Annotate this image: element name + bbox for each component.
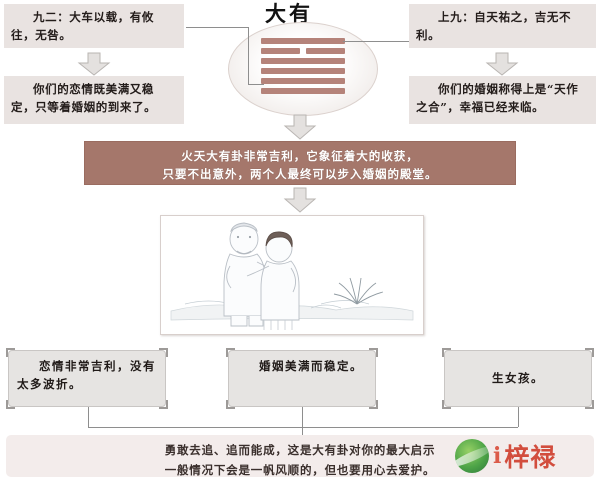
connector-right-horizontal: [343, 41, 409, 42]
watermark: i 梓禄: [455, 438, 556, 474]
hexagram-line-3: [261, 68, 345, 74]
corner-bracket-br: [369, 400, 378, 409]
corner-bracket-tr: [585, 348, 594, 357]
watermark-brand: 梓禄: [504, 438, 556, 474]
couple-sketch-icon: [161, 216, 423, 334]
corner-bracket-bl: [226, 400, 235, 409]
down-arrow-icon-center-bottom: [282, 187, 318, 213]
corner-bracket-bl: [6, 400, 15, 409]
hexagram-line-5: [261, 48, 345, 54]
connector-outcomes-horizontal: [88, 427, 518, 428]
connector-left-vertical: [248, 27, 249, 84]
connector-left-horizontal-bottom: [248, 84, 264, 85]
hexagram-daYou: [261, 38, 345, 94]
illustration-frame: [160, 215, 424, 335]
panel-source-text-right: 上九：自天祐之，吉无不利。: [409, 4, 596, 48]
outcome-box-1: 恋情非常吉利，没有太多波折。: [8, 350, 166, 407]
connector-outcome2-vertical: [302, 407, 303, 427]
hexagram-line-1: [261, 88, 345, 94]
outcome-box-2: 婚姻美满而稳定。: [228, 350, 376, 407]
down-arrow-icon-center-top: [282, 114, 318, 140]
panel-interpretation-left: 你们的恋情既美满又稳定，只等着婚姻的到来了。: [4, 76, 184, 124]
corner-bracket-br: [159, 400, 168, 409]
main-banner-line-2: 只要不出意外，两个人最终可以步入婚姻的殿堂。: [95, 165, 505, 183]
corner-bracket-tl: [442, 348, 451, 357]
connector-outcome3-vertical: [518, 407, 519, 427]
connector-left-horizontal-top: [186, 27, 248, 28]
corner-bracket-br: [585, 400, 594, 409]
hexagram-line-2: [261, 78, 345, 84]
outcome-text-3: 生女孩。: [445, 351, 591, 393]
outcome-text-2: 婚姻美满而稳定。: [229, 351, 375, 381]
corner-bracket-tl: [6, 348, 15, 357]
leaf-globe-logo-icon: [455, 439, 489, 473]
corner-bracket-tr: [159, 348, 168, 357]
infographic-canvas: 大有 九二：大车以载，有攸往，无咎。 你们的恋情既美满又稳定，只等着婚姻的到来了…: [0, 0, 600, 480]
down-arrow-icon-left: [76, 52, 112, 76]
corner-bracket-tr: [369, 348, 378, 357]
main-banner-line-1: 火天大有卦非常吉利，它象征着大的收获，: [95, 147, 505, 165]
connector-footer-vertical: [302, 427, 303, 435]
down-arrow-icon-right: [484, 52, 520, 76]
corner-bracket-bl: [442, 400, 451, 409]
watermark-letter: i: [493, 443, 501, 469]
panel-source-text-left: 九二：大车以载，有攸往，无咎。: [4, 4, 184, 48]
outcome-text-1: 恋情非常吉利，没有太多波折。: [9, 351, 165, 400]
hexagram-line-6: [261, 38, 345, 44]
outcome-box-3: 生女孩。: [444, 350, 592, 407]
hexagram-line-4: [261, 58, 345, 64]
panel-interpretation-right: 你们的婚姻称得上是“天作之合”，幸福已经来临。: [409, 76, 596, 124]
corner-bracket-tl: [226, 348, 235, 357]
connector-outcome1-vertical: [88, 407, 89, 427]
main-banner: 火天大有卦非常吉利，它象征着大的收获， 只要不出意外，两个人最终可以步入婚姻的殿…: [84, 141, 516, 185]
